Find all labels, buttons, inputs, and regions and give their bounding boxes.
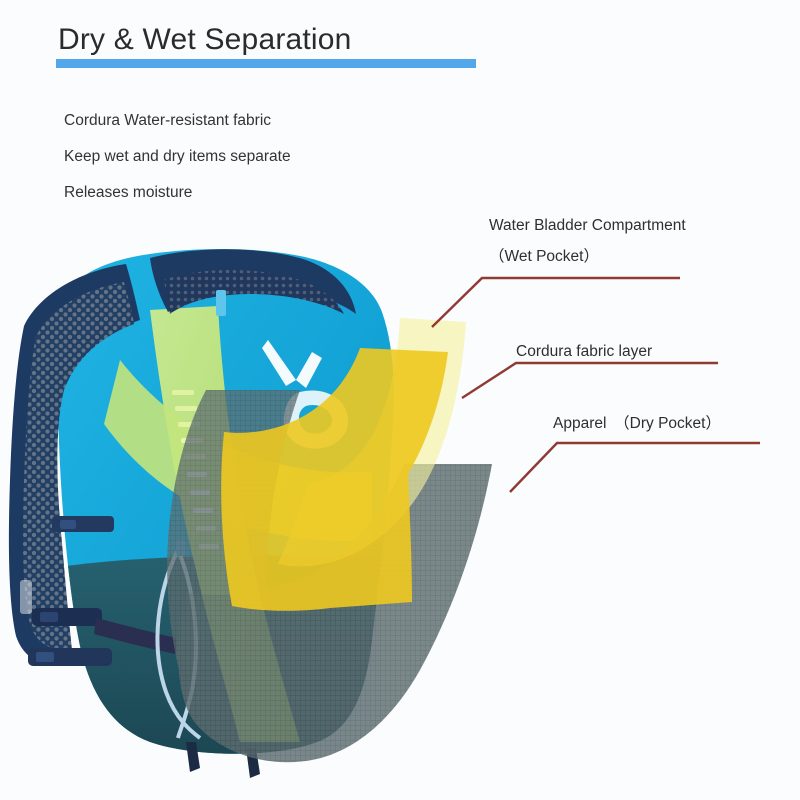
title-underline [56, 59, 476, 68]
product-photo [0, 240, 560, 800]
callout-cordura-layer: Cordura fabric layer [516, 338, 652, 366]
callout-water-bladder-line1: Water Bladder Compartment [489, 212, 686, 240]
callout-water-bladder-line2: （Wet Pocket） [489, 243, 599, 271]
feature-item: Releases moisture [64, 175, 484, 211]
feature-item: Keep wet and dry items separate [64, 139, 484, 175]
callout-dry-pocket: Apparel （Dry Pocket） [553, 410, 721, 438]
feature-item: Cordura Water-resistant fabric [64, 103, 484, 139]
infographic-page: Dry & Wet Separation Cordura Water-resis… [0, 0, 800, 800]
page-title: Dry & Wet Separation [58, 20, 352, 60]
collar-tab [216, 290, 226, 316]
feature-list: Cordura Water-resistant fabric Keep wet … [64, 103, 484, 211]
